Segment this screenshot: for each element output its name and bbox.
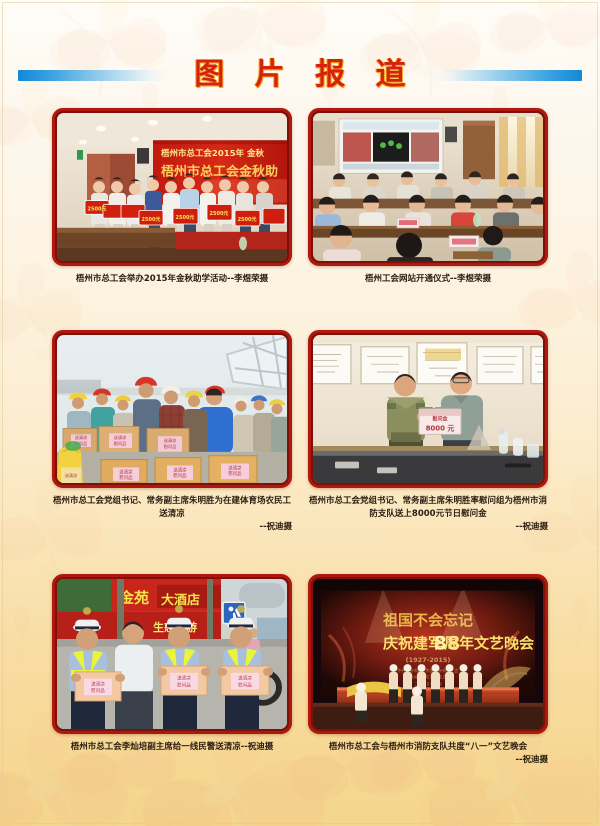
svg-text:慰问品: 慰问品: [164, 443, 177, 449]
svg-text:慰问金: 慰问金: [433, 416, 449, 423]
caption-main: 梧州市总工会党组书记、常务副主席朱明胜为在建体育场农民工送清凉: [53, 496, 291, 519]
svg-text:2500元: 2500元: [210, 210, 229, 217]
photo-cell-website-launch: 梧州工会网站开通仪式--李煜荣摄: [300, 108, 600, 286]
svg-text:送清凉: 送清凉: [75, 434, 88, 440]
svg-text:慰问品: 慰问品: [238, 682, 252, 689]
svg-text:8000 元: 8000 元: [426, 425, 455, 433]
svg-text:送清凉: 送清凉: [228, 464, 242, 471]
photo-caption: 梧州市总工会党组书记、常务副主席朱明胜为在建体育场农民工送清凉 --祝迪摄: [52, 495, 292, 534]
svg-text:慰问品: 慰问品: [177, 682, 191, 689]
svg-text:梧州市总工会2015年 金秋: 梧州市总工会2015年 金秋: [161, 148, 265, 158]
svg-text:送清凉: 送清凉: [164, 437, 177, 443]
svg-text:送清凉: 送清凉: [91, 681, 105, 688]
svg-text:2500元: 2500元: [142, 216, 161, 223]
svg-text:梧州市总工会金秋助: 梧州市总工会金秋助: [161, 163, 278, 179]
header-bar-left: [18, 70, 170, 81]
photo-frame[interactable]: 送清凉慰问品 送清凉慰问品 送清凉慰问品: [52, 330, 292, 488]
photo-grid: 梧州市总工会2015年 金秋 梧州市总工会金秋助: [0, 108, 600, 767]
svg-text:慰问品: 慰问品: [228, 470, 241, 477]
photo-caption: 梧州市总工会李灿培副主席给一线民警送清凉--祝迪摄: [52, 741, 292, 754]
caption-main: 梧州市总工会党组书记、常务副主席朱明胜率慰问组为梧州市消防支队送上8000元节日…: [309, 496, 547, 519]
svg-text:(1927-2015): (1927-2015): [406, 656, 451, 664]
photo-frame[interactable]: 祖国不会忘记 庆祝建军 88 周年文艺晚会 (1927-2015) 中共梧州市委…: [308, 574, 548, 734]
photo-row-1: 梧州市总工会2015年 金秋 梧州市总工会金秋助: [0, 108, 600, 286]
photo-website-launch: [313, 113, 543, 261]
photo-jinqiu-zhuxue: 梧州市总工会2015年 金秋 梧州市总工会金秋助: [57, 113, 287, 261]
caption-credit: --祝迪摄: [308, 521, 548, 534]
svg-text:送清凉: 送清凉: [238, 675, 252, 682]
photo-caption: 梧州市总工会与梧州市消防支队共度“八一”文艺晚会 --祝迪摄: [308, 741, 548, 767]
svg-text:送清凉: 送清凉: [177, 675, 191, 682]
photo-row-3: 金苑 大酒店 生态旅游: [0, 574, 600, 767]
svg-text:2500元: 2500元: [88, 205, 107, 212]
svg-text:慰问品: 慰问品: [173, 472, 186, 479]
svg-text:慰问品: 慰问品: [91, 687, 105, 694]
photo-cell-traffic-police: 金苑 大酒店 生态旅游: [0, 574, 300, 767]
photo-caption: 梧州市总工会举办2015年金秋助学活动--李煜荣摄: [52, 273, 292, 286]
photo-construction-workers: 送清凉慰问品 送清凉慰问品 送清凉慰问品: [57, 335, 287, 483]
photo-army-anniversary-gala: 祖国不会忘记 庆祝建军 88 周年文艺晚会 (1927-2015) 中共梧州市委…: [313, 579, 543, 729]
photo-caption: 梧州工会网站开通仪式--李煜荣摄: [308, 273, 548, 286]
photo-cell-jinqiu-zhuxue: 梧州市总工会2015年 金秋 梧州市总工会金秋助: [0, 108, 300, 286]
photo-cell-construction-workers: 送清凉慰问品 送清凉慰问品 送清凉慰问品: [0, 330, 300, 534]
caption-credit: --祝迪摄: [52, 521, 292, 534]
photo-frame[interactable]: 慰问金 8000 元: [308, 330, 548, 488]
photo-fire-brigade-donation: 慰问金 8000 元: [313, 335, 543, 483]
page-title: 图 片 报 道: [170, 60, 429, 90]
svg-text:梧州市消防支队 主办: 梧州市消防支队 主办: [409, 675, 446, 680]
header-bar-right: [430, 70, 582, 81]
photo-frame[interactable]: 梧州市总工会2015年 金秋 梧州市总工会金秋助: [52, 108, 292, 266]
caption-credit: --祝迪摄: [308, 754, 548, 767]
svg-text:2500元: 2500元: [176, 214, 195, 221]
svg-text:送清凉: 送清凉: [119, 468, 133, 475]
photo-row-2: 送清凉慰问品 送清凉慰问品 送清凉慰问品: [0, 330, 600, 534]
photo-caption: 梧州市总工会党组书记、常务副主席朱明胜率慰问组为梧州市消防支队送上8000元节日…: [308, 495, 548, 534]
photo-frame[interactable]: [308, 108, 548, 266]
caption-main: 梧州市总工会与梧州市消防支队共度“八一”文艺晚会: [329, 742, 527, 752]
page-header: 图 片 报 道: [0, 52, 600, 98]
page-root: 图 片 报 道: [0, 0, 600, 826]
photo-cell-fire-brigade-donation: 慰问金 8000 元: [300, 330, 600, 534]
svg-text:送清凉: 送清凉: [114, 434, 127, 440]
photo-frame[interactable]: 金苑 大酒店 生态旅游: [52, 574, 292, 734]
svg-text:2500元: 2500元: [238, 216, 257, 223]
photo-traffic-police: 金苑 大酒店 生态旅游: [57, 579, 287, 729]
photo-cell-army-anniversary-gala: 祖国不会忘记 庆祝建军 88 周年文艺晚会 (1927-2015) 中共梧州市委…: [300, 574, 600, 767]
svg-text:送清凉: 送清凉: [65, 472, 78, 478]
svg-text:慰问品: 慰问品: [114, 440, 127, 446]
svg-text:送清凉: 送清凉: [173, 466, 187, 473]
svg-text:慰问品: 慰问品: [119, 474, 132, 481]
